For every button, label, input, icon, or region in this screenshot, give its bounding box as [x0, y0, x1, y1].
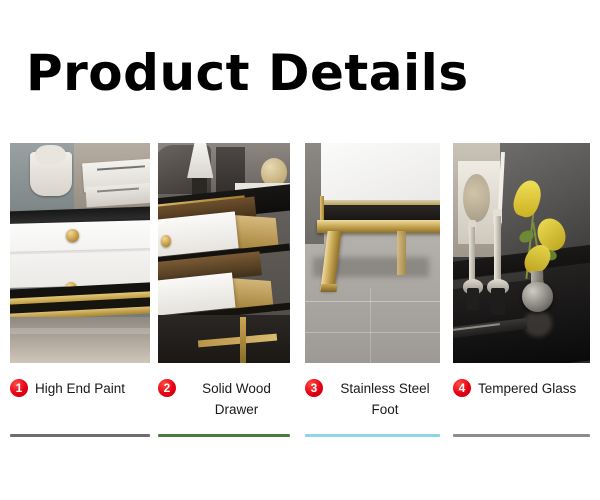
feature-number-badge-1: 1	[10, 379, 28, 397]
feature-item-1: 1 High End Paint	[10, 378, 150, 440]
feature-item-3: 3 Stainless Steel Foot	[305, 378, 440, 440]
photo-stainless-steel-foot	[305, 143, 440, 363]
page-title: Product Details	[26, 44, 469, 102]
feature-item-2: 2 Solid Wood Drawer	[158, 378, 290, 440]
feature-number-badge-4: 4	[453, 379, 471, 397]
photo-solid-wood-drawer	[158, 143, 290, 363]
feature-number-badge-3: 3	[305, 379, 323, 397]
feature-label-2: Solid Wood Drawer	[183, 378, 290, 420]
photo-high-end-paint	[10, 143, 150, 363]
feature-rule-3	[305, 434, 440, 437]
feature-rule-1	[10, 434, 150, 437]
feature-item-4: 4 Tempered Glass	[453, 378, 590, 440]
product-image-1[interactable]	[10, 143, 150, 363]
product-image-3[interactable]	[305, 143, 440, 363]
feature-label-4: Tempered Glass	[478, 378, 590, 399]
feature-number-badge-2: 2	[158, 379, 176, 397]
product-image-4[interactable]	[453, 143, 590, 363]
product-image-gallery	[0, 143, 600, 363]
drawer-knob-icon	[66, 229, 79, 242]
feature-label-3: Stainless Steel Foot	[330, 378, 440, 420]
feature-label-1: High End Paint	[35, 378, 150, 399]
product-image-2[interactable]	[158, 143, 290, 363]
feature-captions: 1 High End Paint 2 Solid Wood Drawer 3 S…	[0, 378, 600, 458]
feature-rule-2	[158, 434, 290, 437]
feature-rule-4	[453, 434, 590, 437]
photo-tempered-glass	[453, 143, 590, 363]
